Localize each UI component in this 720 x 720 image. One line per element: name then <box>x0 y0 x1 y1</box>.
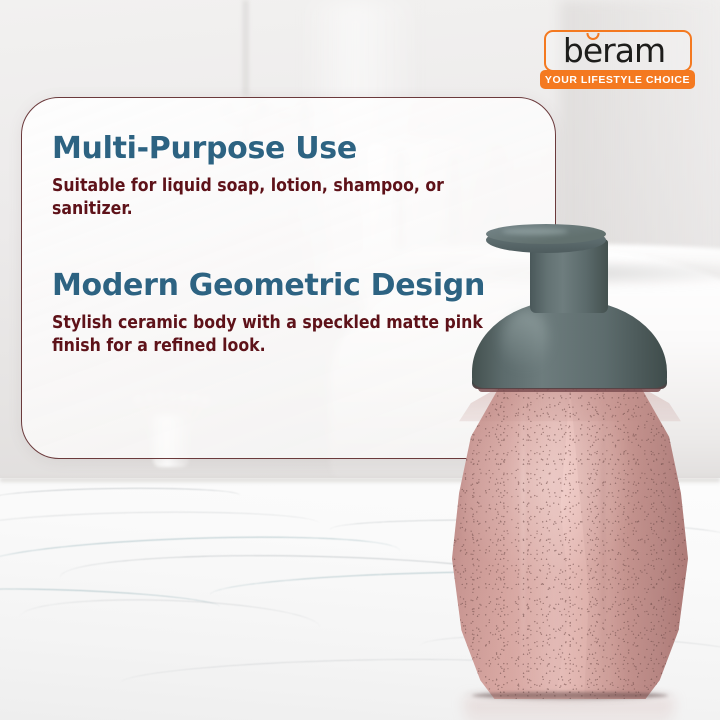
product-reflection <box>464 697 674 720</box>
logo-tagline: YOUR LIFESTYLE CHOICE <box>540 70 695 89</box>
pump-press-pad-highlight <box>502 228 568 235</box>
logo-wordmark: beram <box>540 30 688 72</box>
brand-logo: beram YOUR LIFESTYLE CHOICE <box>540 30 695 92</box>
pump-collar-sheen <box>502 309 548 371</box>
feature-heading: Multi-Purpose Use <box>52 131 507 166</box>
soap-dispenser-product <box>430 205 720 700</box>
logo-letter-b: b <box>563 34 583 67</box>
logo-letters-ram: ram <box>602 34 665 67</box>
product-scene: Multi-Purpose Use Suitable for liquid so… <box>0 0 720 720</box>
bottle-speckle-texture <box>452 387 688 699</box>
logo-letter-e-with-breve: e <box>583 34 602 67</box>
